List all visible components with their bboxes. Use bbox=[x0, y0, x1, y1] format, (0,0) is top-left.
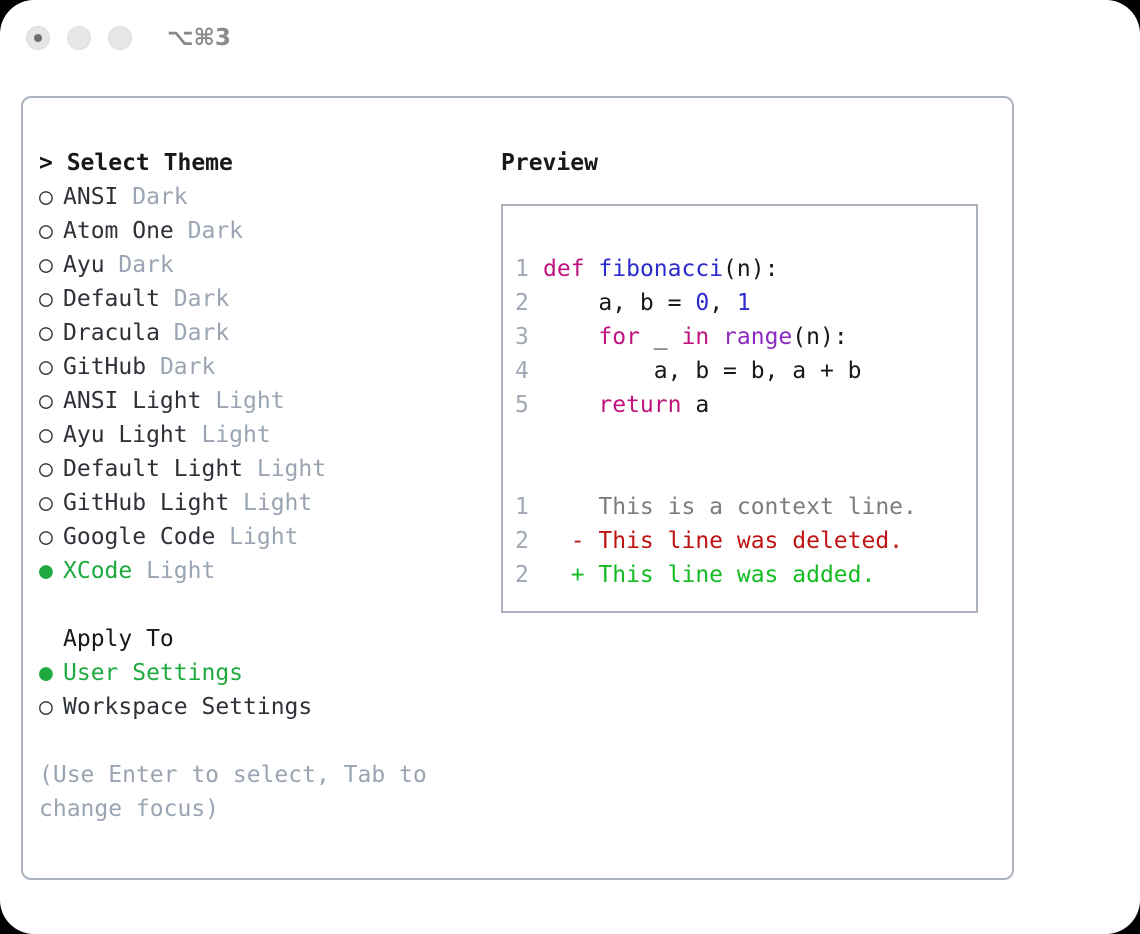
theme-option-label: ANSI Light bbox=[63, 388, 201, 414]
diff-sign bbox=[543, 494, 585, 520]
theme-variant-tag: Light bbox=[188, 422, 271, 448]
code-token: def bbox=[543, 256, 585, 282]
theme-option-label: XCode bbox=[63, 558, 132, 584]
line-number: 3 bbox=[515, 320, 543, 354]
code-token bbox=[709, 324, 723, 350]
theme-variant-tag: Light bbox=[229, 490, 312, 516]
code-token: for bbox=[598, 324, 640, 350]
theme-option-default-light[interactable]: ○Default Light Light bbox=[39, 452, 479, 486]
code-line: 4 a, b = b, a + b bbox=[515, 354, 976, 388]
code-line: 2 a, b = 0, 1 bbox=[515, 286, 976, 320]
code-token: 1 bbox=[737, 290, 751, 316]
diff-sign: + bbox=[543, 562, 585, 588]
apply-to-option-workspace-settings[interactable]: ○Workspace Settings bbox=[39, 690, 479, 724]
radio-selected-icon: ● bbox=[39, 656, 63, 690]
theme-option-default[interactable]: ○Default Dark bbox=[39, 282, 479, 316]
radio-selected-icon: ● bbox=[39, 554, 63, 588]
theme-picker-panel: > Select Theme ○ANSI Dark○Atom One Dark○… bbox=[21, 96, 1014, 880]
line-number: 2 bbox=[515, 286, 543, 320]
theme-variant-tag: Light bbox=[132, 558, 215, 584]
radio-unselected-icon: ○ bbox=[39, 486, 63, 520]
diff-line-add: 2 + This line was added. bbox=[515, 558, 976, 592]
radio-unselected-icon: ○ bbox=[39, 418, 63, 452]
radio-unselected-icon: ○ bbox=[39, 452, 63, 486]
theme-option-dracula[interactable]: ○Dracula Dark bbox=[39, 316, 479, 350]
code-token bbox=[543, 392, 598, 418]
theme-option-label: GitHub Light bbox=[63, 490, 229, 516]
title-bar: ⌥⌘3 bbox=[0, 0, 1140, 76]
diff-line-del: 2 - This line was deleted. bbox=[515, 524, 976, 558]
line-number: 4 bbox=[515, 354, 543, 388]
preview-box: 1def fibonacci(n):2 a, b = 0, 13 for _ i… bbox=[501, 204, 978, 613]
diff-text: This line was deleted. bbox=[585, 528, 904, 554]
code-token: , bbox=[709, 290, 737, 316]
traffic-light-dot-icon bbox=[34, 34, 42, 42]
radio-unselected-icon: ○ bbox=[39, 316, 63, 350]
theme-option-ansi-light[interactable]: ○ANSI Light Light bbox=[39, 384, 479, 418]
code-sample: 1def fibonacci(n):2 a, b = 0, 13 for _ i… bbox=[515, 252, 976, 422]
theme-option-google-code[interactable]: ○Google Code Light bbox=[39, 520, 479, 554]
code-token: fibonacci bbox=[598, 256, 723, 282]
theme-option-label: Google Code bbox=[63, 524, 215, 550]
radio-unselected-icon: ○ bbox=[39, 248, 63, 282]
code-token bbox=[543, 324, 598, 350]
line-number: 2 bbox=[515, 558, 543, 592]
select-theme-heading: > Select Theme bbox=[39, 146, 479, 180]
app-window: ⌥⌘3 > Select Theme ○ANSI Dark○Atom One D… bbox=[0, 0, 1140, 934]
preview-heading: Preview bbox=[501, 146, 1001, 180]
theme-option-label: Ayu bbox=[63, 252, 105, 278]
radio-unselected-icon: ○ bbox=[39, 690, 63, 724]
apply-to-option-list: ●User Settings○Workspace Settings bbox=[39, 656, 479, 724]
theme-variant-tag: Light bbox=[201, 388, 284, 414]
diff-sample: 1 This is a context line.2 - This line w… bbox=[515, 490, 976, 592]
theme-variant-tag: Dark bbox=[174, 218, 243, 244]
theme-option-ayu-light[interactable]: ○Ayu Light Light bbox=[39, 418, 479, 452]
theme-option-label: Default Light bbox=[63, 456, 243, 482]
theme-option-label: GitHub bbox=[63, 354, 146, 380]
window-controls bbox=[26, 26, 132, 50]
code-token: (n): bbox=[723, 256, 778, 282]
radio-unselected-icon: ○ bbox=[39, 384, 63, 418]
theme-variant-tag: Light bbox=[215, 524, 298, 550]
theme-option-ansi[interactable]: ○ANSI Dark bbox=[39, 180, 479, 214]
theme-option-github[interactable]: ○GitHub Dark bbox=[39, 350, 479, 384]
code-line: 1def fibonacci(n): bbox=[515, 252, 976, 286]
code-token: _ bbox=[640, 324, 682, 350]
radio-unselected-icon: ○ bbox=[39, 214, 63, 248]
theme-option-xcode[interactable]: ●XCode Light bbox=[39, 554, 479, 588]
diff-line-ctx: 1 This is a context line. bbox=[515, 490, 976, 524]
traffic-light-active[interactable] bbox=[26, 26, 50, 50]
diff-text: This line was added. bbox=[585, 562, 876, 588]
theme-option-label: Atom One bbox=[63, 218, 174, 244]
theme-list-column: > Select Theme ○ANSI Dark○Atom One Dark○… bbox=[39, 146, 479, 826]
preview-column: Preview 1def fibonacci(n):2 a, b = 0, 13… bbox=[501, 146, 1001, 613]
theme-option-label: Dracula bbox=[63, 320, 160, 346]
spacer bbox=[515, 422, 976, 456]
line-number: 1 bbox=[515, 490, 543, 524]
code-token: (n): bbox=[792, 324, 847, 350]
apply-to-option-user-settings[interactable]: ●User Settings bbox=[39, 656, 479, 690]
line-number: 1 bbox=[515, 252, 543, 286]
theme-variant-tag: Light bbox=[243, 456, 326, 482]
keyboard-hint-text: (Use Enter to select, Tab to change focu… bbox=[39, 758, 439, 826]
theme-option-label: Default bbox=[63, 286, 160, 312]
theme-variant-tag: Dark bbox=[105, 252, 174, 278]
traffic-light-3[interactable] bbox=[108, 26, 132, 50]
theme-variant-tag: Dark bbox=[160, 286, 229, 312]
code-token: in bbox=[681, 324, 709, 350]
spacer bbox=[39, 588, 479, 622]
code-token: a, b = b, a + b bbox=[543, 358, 862, 384]
theme-variant-tag: Dark bbox=[118, 184, 187, 210]
code-token: a, b = bbox=[543, 290, 695, 316]
diff-sign: - bbox=[543, 528, 585, 554]
code-line: 3 for _ in range(n): bbox=[515, 320, 976, 354]
apply-to-option-label: User Settings bbox=[63, 660, 243, 686]
radio-unselected-icon: ○ bbox=[39, 520, 63, 554]
code-token: 0 bbox=[695, 290, 709, 316]
traffic-light-2[interactable] bbox=[67, 26, 91, 50]
theme-option-label: Ayu Light bbox=[63, 422, 188, 448]
theme-option-github-light[interactable]: ○GitHub Light Light bbox=[39, 486, 479, 520]
code-token: return bbox=[598, 392, 681, 418]
theme-variant-tag: Dark bbox=[160, 320, 229, 346]
keyboard-shortcut-label: ⌥⌘3 bbox=[167, 25, 231, 51]
code-token: a bbox=[681, 392, 709, 418]
radio-unselected-icon: ○ bbox=[39, 282, 63, 316]
code-line: 5 return a bbox=[515, 388, 976, 422]
diff-text: This is a context line. bbox=[585, 494, 917, 520]
radio-unselected-icon: ○ bbox=[39, 180, 63, 214]
radio-unselected-icon: ○ bbox=[39, 350, 63, 384]
code-token bbox=[585, 256, 599, 282]
apply-to-title: Apply To bbox=[39, 622, 479, 656]
apply-to-option-label: Workspace Settings bbox=[63, 694, 312, 720]
theme-option-ayu[interactable]: ○Ayu Dark bbox=[39, 248, 479, 282]
theme-variant-tag: Dark bbox=[146, 354, 215, 380]
code-token: range bbox=[723, 324, 792, 350]
line-number: 5 bbox=[515, 388, 543, 422]
theme-option-list: ○ANSI Dark○Atom One Dark○Ayu Dark○Defaul… bbox=[39, 180, 479, 588]
theme-option-label: ANSI bbox=[63, 184, 118, 210]
theme-option-atom-one[interactable]: ○Atom One Dark bbox=[39, 214, 479, 248]
line-number: 2 bbox=[515, 524, 543, 558]
spacer bbox=[515, 456, 976, 490]
